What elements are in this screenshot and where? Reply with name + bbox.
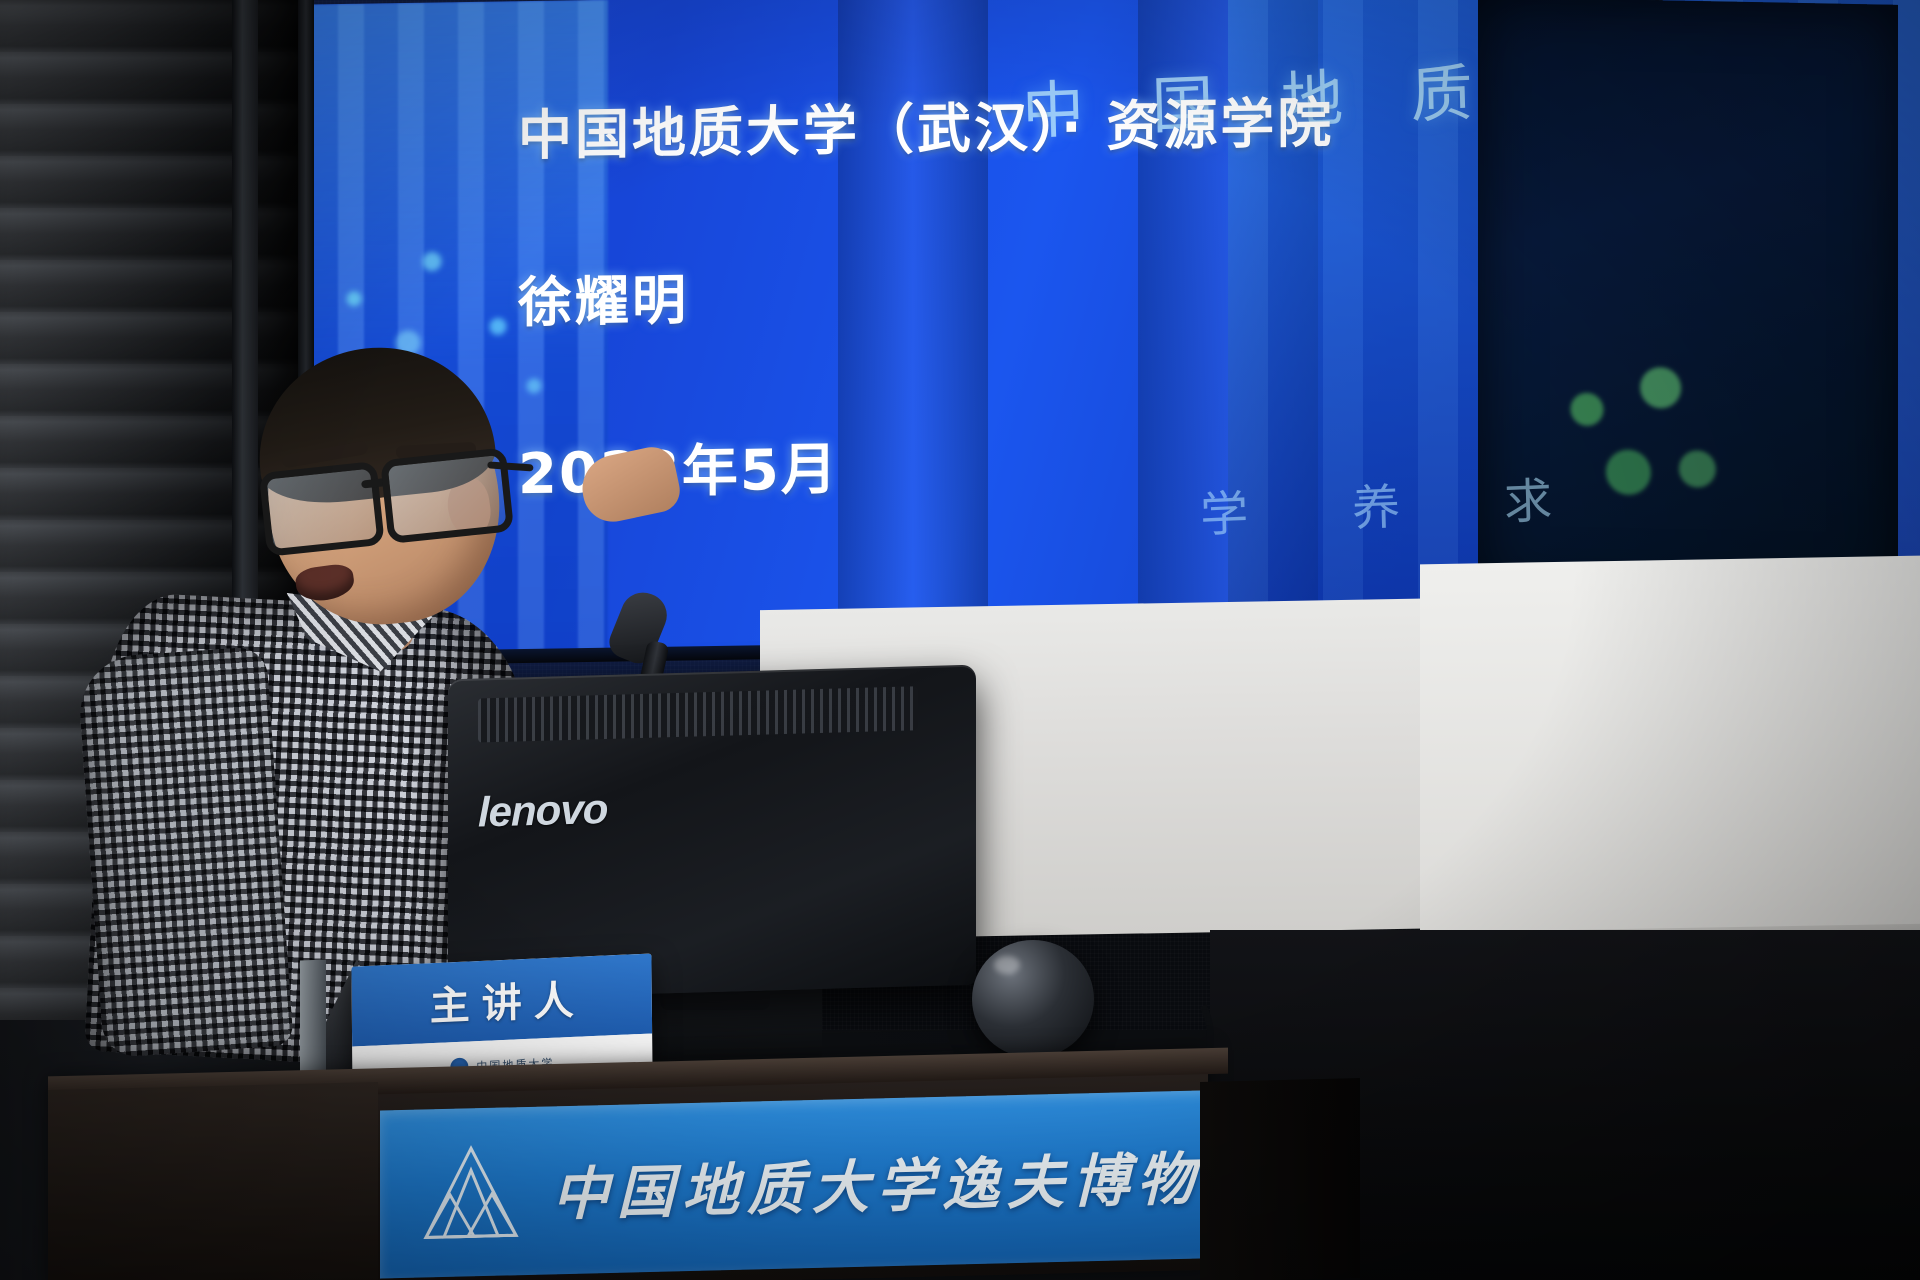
slide-speaker-name: 徐耀明 xyxy=(518,245,1334,337)
photo-scene: 中 国 地 质 大 学 养 求 中国地质大学（武汉）· 资源学院 徐耀明 202… xyxy=(0,0,1920,1280)
glasses-lens-left xyxy=(259,461,385,557)
monitor-vent-grille xyxy=(478,686,918,742)
conference-camera xyxy=(972,940,1094,1058)
slide-affiliation: 中国地质大学（武汉）· 资源学院 xyxy=(518,78,1334,170)
lenovo-monitor: lenovo xyxy=(448,665,976,1000)
podium-banner-text: 中国地质大学逸夫博物馆 xyxy=(552,1132,1246,1231)
nameplate-role-label: 主讲人 xyxy=(418,967,586,1032)
podium-left-face xyxy=(48,1082,378,1280)
podium-banner: 中国地质大学逸夫博物馆 xyxy=(380,1089,1246,1278)
lenovo-logo: lenovo xyxy=(478,785,607,837)
speaker-arm xyxy=(76,646,293,1058)
nameplate-role-banner: 主讲人 xyxy=(351,953,652,1046)
mountain-peaks-logo-icon xyxy=(416,1139,526,1246)
podium-right-shadow xyxy=(1200,1078,1360,1280)
